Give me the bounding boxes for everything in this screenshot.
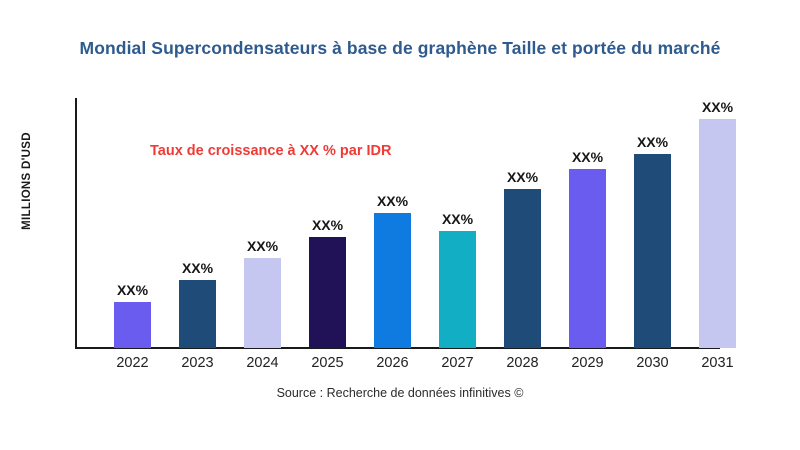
bar-value-label: XX%	[490, 169, 555, 185]
bar-value-label: XX%	[295, 217, 360, 233]
bar[interactable]	[504, 189, 541, 348]
bar-slot: XX%	[165, 98, 230, 349]
bar[interactable]	[179, 280, 216, 348]
bar-value-label: XX%	[165, 260, 230, 276]
page-title: Mondial Supercondensateurs à base de gra…	[0, 38, 800, 59]
bar[interactable]	[309, 237, 346, 348]
x-tick-label-2025: 2025	[295, 355, 360, 371]
bar[interactable]	[634, 154, 671, 348]
bar-slot: XX%	[295, 98, 360, 349]
x-tick-label-2027: 2027	[425, 355, 490, 371]
bar-slot: XX%	[490, 98, 555, 349]
bar-value-label: XX%	[685, 99, 750, 115]
x-tick-label-2029: 2029	[555, 355, 620, 371]
bar-value-label: XX%	[360, 193, 425, 209]
x-tick-label-2028: 2028	[490, 355, 555, 371]
bar-value-label: XX%	[620, 134, 685, 150]
bar-slot: XX%	[100, 98, 165, 349]
bar[interactable]	[569, 169, 606, 348]
x-tick-label-2030: 2030	[620, 355, 685, 371]
x-tick-label-2024: 2024	[230, 355, 295, 371]
bar-value-label: XX%	[425, 211, 490, 227]
bar[interactable]	[374, 213, 411, 348]
bar-chart: Mondial Supercondensateurs à base de gra…	[0, 0, 800, 450]
bar[interactable]	[439, 231, 476, 348]
bar-slot: XX%	[230, 98, 295, 349]
bar-slot: XX%	[360, 98, 425, 349]
bar[interactable]	[114, 302, 151, 348]
y-axis-label: MILLIONS D'USD	[21, 81, 33, 281]
bar-slot: XX%	[555, 98, 620, 349]
bar-slot: XX%	[620, 98, 685, 349]
bar-value-label: XX%	[555, 149, 620, 165]
x-tick-label-2031: 2031	[685, 355, 750, 371]
bar-value-label: XX%	[230, 238, 295, 254]
bar-slot: XX%	[685, 98, 750, 349]
bar-value-label: XX%	[100, 282, 165, 298]
x-tick-label-2026: 2026	[360, 355, 425, 371]
x-tick-label-2023: 2023	[165, 355, 230, 371]
bar-slot: XX%	[425, 98, 490, 349]
source-note: Source : Recherche de données infinitive…	[0, 386, 800, 400]
bar[interactable]	[244, 258, 281, 348]
plot-area: XX%XX%XX%XX%XX%XX%XX%XX%XX%XX%	[75, 98, 800, 349]
x-tick-label-2022: 2022	[100, 355, 165, 371]
bar[interactable]	[699, 119, 736, 348]
